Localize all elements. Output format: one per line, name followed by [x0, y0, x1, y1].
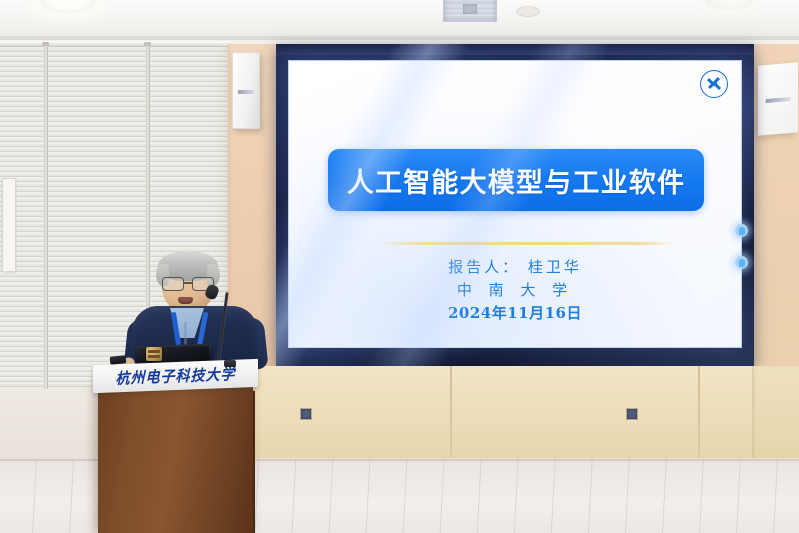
lower-wall-panel-right	[752, 366, 799, 462]
wall-speaker-left-icon	[232, 52, 260, 129]
presentation-screen[interactable]: 人工智能大模型与工业软件 报告人： 桂卫华 中 南 大 学 2024年11月16…	[288, 60, 742, 348]
podium-nameplate-text: 杭州电子科技大学	[116, 363, 236, 389]
slide-divider	[378, 242, 678, 245]
screen-touch-button-1[interactable]	[735, 224, 748, 237]
podium: 杭州电子科技大学 HANGZHOU DIANZI UNIVERSITY	[98, 385, 253, 533]
lecture-hall-photo: 人工智能大模型与工业软件 报告人： 桂卫华 中 南 大 学 2024年11月16…	[0, 0, 799, 533]
blinds-bracket-2	[144, 42, 151, 46]
wall-speaker-right-icon	[758, 62, 798, 135]
emblem-mark	[707, 77, 721, 91]
smoke-detector-icon	[516, 6, 540, 17]
speaker-brand-label-right	[766, 97, 791, 103]
wall-socket-1[interactable]	[300, 408, 312, 420]
presenter-mouth	[178, 297, 193, 304]
bezel-top-strip	[276, 44, 754, 55]
university-emblem-icon	[700, 70, 728, 98]
wall-socket-2[interactable]	[626, 408, 638, 420]
slide-speaker-line: 报告人： 桂卫华	[288, 256, 742, 279]
screen-touch-button-2[interactable]	[735, 256, 748, 269]
slide-affiliation: 中 南 大 学	[288, 279, 742, 302]
brass-ornament-icon	[146, 347, 162, 361]
display-bezel: 人工智能大模型与工业软件 报告人： 桂卫华 中 南 大 学 2024年11月16…	[276, 44, 754, 366]
blinds-divider-1	[44, 46, 48, 389]
blinds-bracket-1	[42, 42, 49, 46]
slide-title-band: 人工智能大模型与工业软件	[328, 149, 704, 211]
panel-seam-2	[698, 366, 700, 462]
slide-date: 2024年11月16日	[288, 302, 742, 325]
slide-subtitle-block: 报告人： 桂卫华 中 南 大 学 2024年11月16日	[288, 256, 742, 324]
microphone-base	[224, 360, 236, 367]
slide-title: 人工智能大模型与工业软件	[347, 161, 685, 200]
blinds-rail	[0, 41, 232, 47]
wall-notice-frame	[2, 178, 16, 272]
speaker-brand-label	[238, 90, 254, 94]
panel-seam-1	[450, 366, 452, 462]
lower-wall-panels	[228, 366, 799, 462]
air-conditioning-vent-icon	[443, 0, 497, 22]
